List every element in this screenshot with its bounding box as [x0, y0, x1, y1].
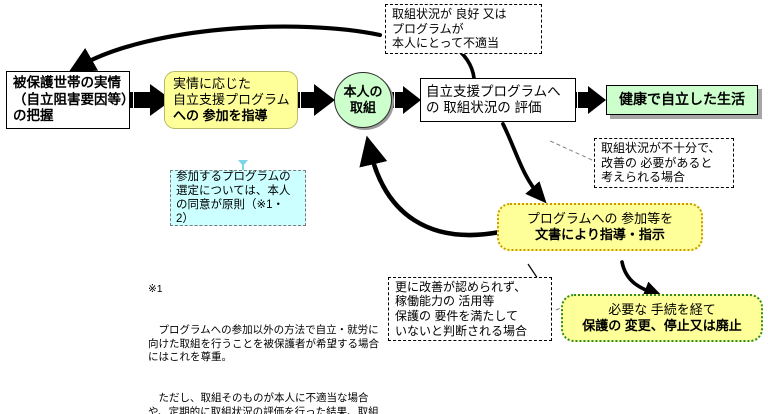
node-goal[interactable]: 健康で自立した生活: [606, 85, 758, 115]
node-evaluation[interactable]: 自立支援プログラムへ の 取組状況の 評価: [420, 78, 576, 122]
leader-insufficient: [548, 140, 592, 160]
node-evaluation-line-1: 自立支援プログラムへ: [426, 84, 570, 100]
callout-good-line-3: 本人にとって不適当: [392, 36, 535, 51]
footnote-1-paragraph-1: プログラムへの参加以外の方法で自立・就労に向けた取組を行うことを被保護者が希望す…: [148, 324, 380, 365]
node-sanction[interactable]: 必要な 手続を経て 保護の 変更、停止又は廃止: [561, 294, 763, 342]
diagram-canvas: 被保護世帯の実情 （自立阻害要因等） の把握 実情に応じた 自立支援プログラム …: [0, 0, 768, 414]
callout-no-improvement: 更に改善が認められず、 稼働能力の 活用等 保護の 要件を満たして いないと判断…: [388, 277, 552, 341]
arrow-effort-to-evaluation: [390, 86, 421, 114]
arrow-feedback-to-grasp: [80, 27, 380, 66]
node-guidance[interactable]: 実情に応じた 自立支援プログラム への 参加を指導: [164, 71, 298, 129]
node-sanction-line-1: 必要な 手続を経て: [608, 302, 716, 318]
node-written-line-1: プログラムへの 参加等を: [527, 211, 673, 227]
callout-insufficient: 取組状況が不十分で、 改善の 必要があると 考えられる場合: [594, 138, 734, 188]
arrow-guidance-to-effort: [296, 84, 335, 116]
node-effort-line-1: 本人の: [343, 84, 382, 100]
callout-noimp-line-2: 稼働能力の 活用等: [395, 294, 545, 309]
callout-consent-note: 参加するプログラムの 選定については、本人 の同意が原則（※1・ 2）: [170, 170, 306, 226]
callout-consent-line-1: 参加するプログラムの: [176, 170, 300, 184]
node-effort[interactable]: 本人の 取組: [334, 72, 392, 128]
node-guidance-line-3: への 参加を指導: [173, 108, 289, 124]
footnote-block: ※1 プログラムへの参加以外の方法で自立・就労に向けた取組を行うことを被保護者が…: [148, 256, 380, 414]
node-sanction-line-2: 保護の 変更、停止又は廃止: [582, 318, 742, 334]
callout-noimp-line-4: いないと判断される場合: [395, 324, 545, 339]
footnote-1-marker: ※1: [148, 283, 380, 297]
node-evaluation-line-2: の 取組状況の 評価: [426, 100, 570, 116]
callout-consent-line-3: の同意が原則（※1・: [176, 198, 300, 212]
node-written-instruction[interactable]: プログラムへの 参加等を 文書により指導・指示: [497, 203, 703, 251]
callout-good-or-unsuitable: 取組状況が 良好 又は プログラムが 本人にとって不適当: [385, 4, 542, 54]
arrow-written-to-sanction: [622, 262, 655, 294]
callout-good-line-1: 取組状況が 良好 又は: [392, 7, 535, 22]
node-guidance-line-1: 実情に応じた: [173, 76, 289, 92]
node-grasp[interactable]: 被保護世帯の実情 （自立阻害要因等） の把握: [6, 71, 130, 129]
callout-noimp-line-3: 保護の 要件を満たして: [395, 309, 545, 324]
arrow-evaluation-to-goal: [573, 86, 606, 114]
node-grasp-line-1: 被保護世帯の実情: [13, 75, 123, 91]
node-effort-line-2: 取組: [350, 100, 376, 116]
callout-insufficient-line-3: 考えられる場合: [601, 170, 727, 185]
node-grasp-line-3: の把握: [13, 108, 123, 124]
pointer-consent-note: [238, 160, 248, 166]
node-goal-line-1: 健康で自立した生活: [619, 91, 745, 108]
callout-insufficient-line-2: 改善の 必要があると: [601, 156, 727, 171]
callout-insufficient-line-1: 取組状況が不十分で、: [601, 141, 727, 156]
node-grasp-line-2: （自立阻害要因等）: [13, 92, 123, 108]
node-guidance-line-2: 自立支援プログラム: [173, 92, 289, 108]
callout-consent-line-4: 2）: [176, 212, 300, 226]
callout-good-line-2: プログラムが: [392, 22, 535, 37]
arrow-written-to-effort: [370, 150, 500, 235]
footnote-1-paragraph-2: ただし、取組そのものが本人に不適当な場合や、定期的に取組状況の評価を行った結果、…: [148, 392, 380, 414]
node-written-line-2: 文書により指導・指示: [535, 227, 665, 243]
arrow-evaluation-to-written: [503, 124, 540, 196]
callout-consent-line-2: 選定については、本人: [176, 184, 300, 198]
callout-noimp-line-1: 更に改善が認められず、: [395, 280, 545, 295]
